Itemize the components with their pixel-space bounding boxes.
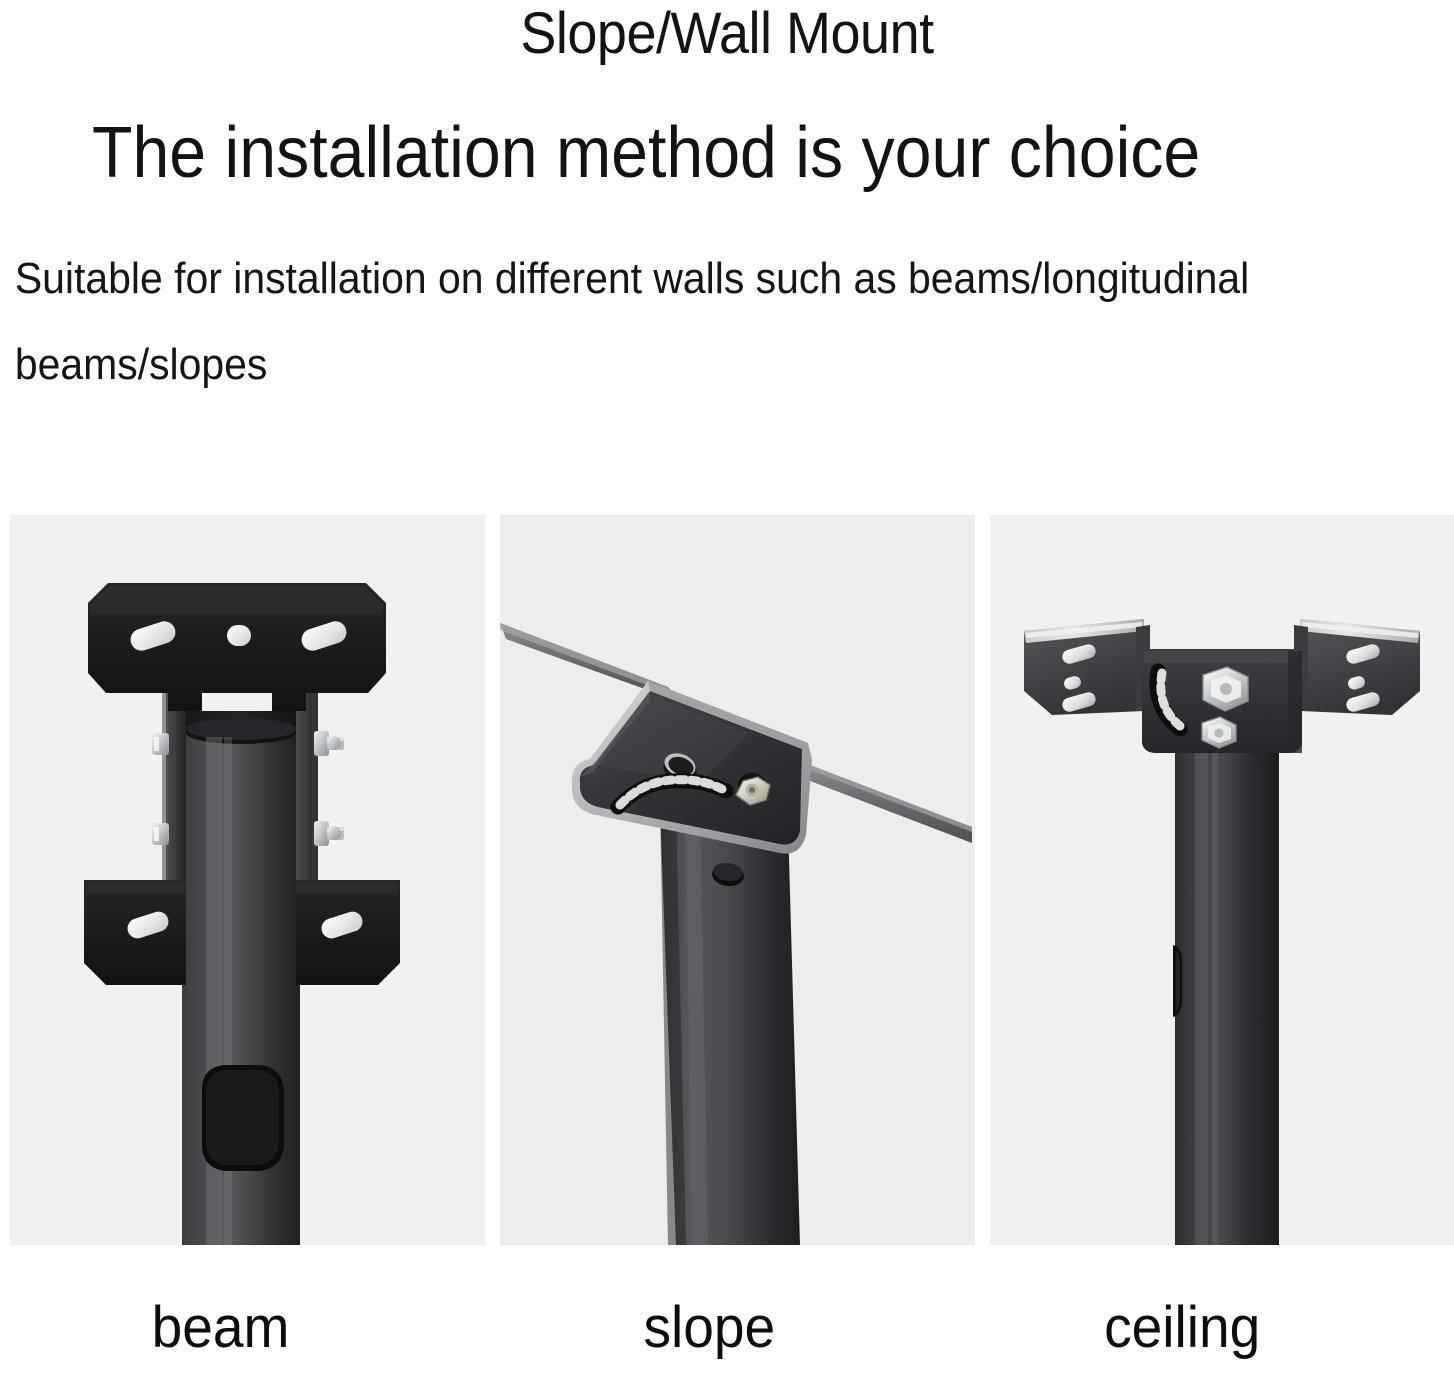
page-subtitle: The installation method is your choice xyxy=(0,66,1338,192)
clamp-plate-left xyxy=(162,687,186,908)
vertical-tube xyxy=(1175,729,1279,1245)
caption-slope: slope xyxy=(643,1290,775,1366)
hex-bolt-upper-right xyxy=(314,731,344,756)
hex-bolt-lower-right xyxy=(314,821,344,846)
page-body-text: Suitable for installation on different w… xyxy=(0,192,1447,408)
header-text-block: Slope/Wall Mount The installation method… xyxy=(0,0,1454,408)
product-image-slope xyxy=(500,515,975,1245)
product-image-ceiling xyxy=(990,515,1454,1245)
body-line-1: Suitable for installation on different w… xyxy=(15,236,1447,322)
hex-bolt-upper-left xyxy=(152,733,169,755)
tube-cutout xyxy=(202,1065,284,1171)
product-image-gallery xyxy=(0,515,1454,1245)
body-line-2: beams/slopes xyxy=(15,322,1447,408)
clamp-plate-right xyxy=(296,687,318,908)
hex-bolt-lower-left xyxy=(152,823,169,845)
tube-slot xyxy=(1173,945,1182,1017)
center-round-hole xyxy=(227,625,251,646)
caption-ceiling: ceiling xyxy=(1104,1290,1260,1366)
panel-captions: beam slope ceiling xyxy=(0,1290,1454,1384)
page-title: Slope/Wall Mount xyxy=(51,0,1403,66)
top-mounting-plate xyxy=(88,583,386,711)
product-image-beam xyxy=(10,515,485,1245)
caption-beam: beam xyxy=(152,1290,290,1366)
